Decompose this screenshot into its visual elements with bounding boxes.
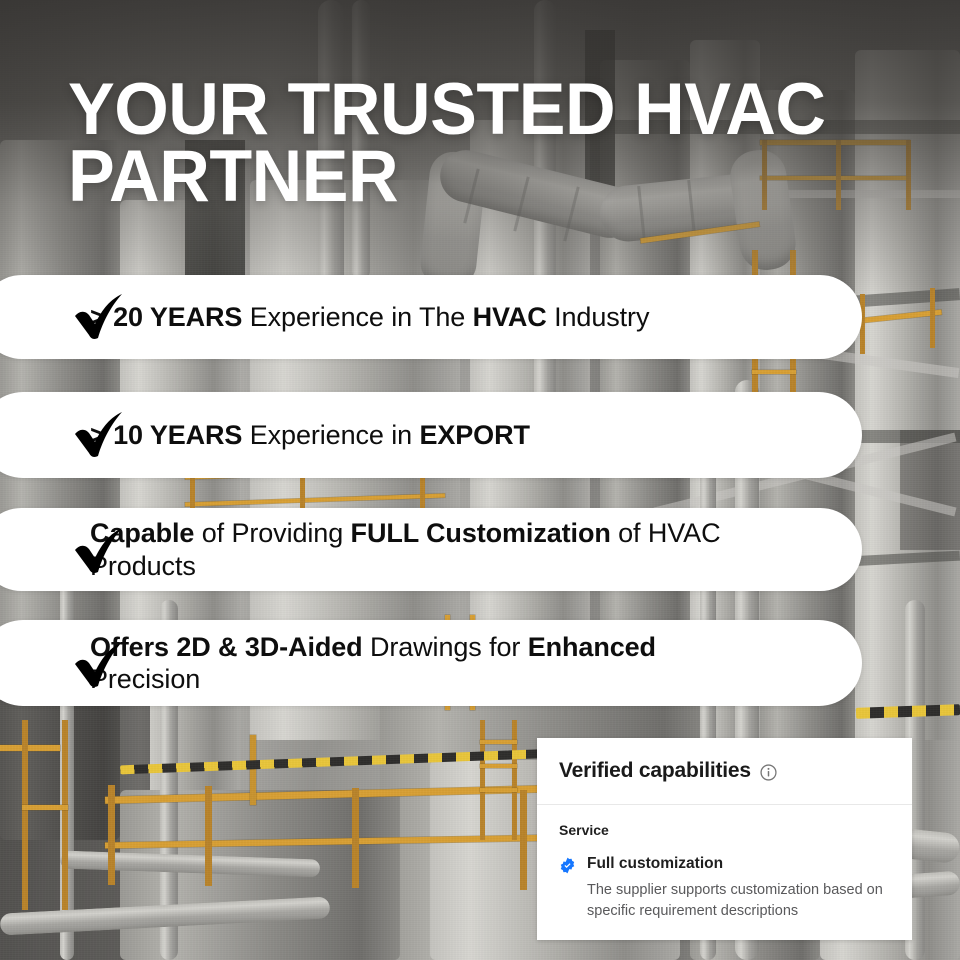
capability-description: The supplier supports customization base…	[587, 880, 892, 922]
verified-capabilities-body: Service Full customization The supplier …	[537, 805, 912, 922]
hvac-promo-banner: YOUR TRUSTED HVAC PARTNER > 20 YEARS Exp…	[0, 0, 960, 960]
feature-1-part-1: Experience in The	[250, 302, 473, 332]
page-title: YOUR TRUSTED HVAC PARTNER	[68, 76, 894, 210]
verified-capabilities-card: Verified capabilities Service Full cus	[537, 738, 912, 940]
verified-capabilities-header: Verified capabilities	[537, 738, 912, 805]
info-circle-icon[interactable]	[760, 764, 777, 781]
feature-3-part-1: of Providing	[202, 518, 351, 548]
feature-3-part-2: FULL Customization	[351, 518, 619, 548]
checkmark-icon	[72, 410, 128, 460]
feature-4-part-0: Offers 2D & 3D-Aided	[90, 632, 370, 662]
feature-bar-4: Offers 2D & 3D-Aided Drawings for Enhanc…	[0, 620, 862, 706]
feature-text-3: Capable of Providing FULL Customization …	[90, 517, 730, 582]
capability-label: Full customization	[587, 855, 723, 873]
capability-section-label: Service	[559, 822, 892, 838]
checkmark-icon	[72, 526, 128, 576]
feature-text-2: > 10 YEARS Experience in EXPORT	[90, 419, 530, 451]
feature-4-part-1: Drawings for	[370, 632, 528, 662]
feature-text-1: > 20 YEARS Experience in The HVAC Indust…	[90, 301, 649, 333]
verified-capabilities-title: Verified capabilities	[559, 759, 751, 783]
verified-badge-icon	[559, 857, 576, 874]
checkmark-icon	[72, 292, 128, 342]
feature-2-part-2: EXPORT	[419, 420, 529, 450]
capability-row: Full customization	[559, 855, 892, 874]
feature-4-part-2: Enhanced	[528, 632, 656, 662]
feature-bar-3: Capable of Providing FULL Customization …	[0, 508, 862, 591]
checkmark-icon	[72, 640, 128, 690]
feature-bar-2: > 10 YEARS Experience in EXPORT	[0, 392, 862, 478]
feature-bar-1: > 20 YEARS Experience in The HVAC Indust…	[0, 275, 862, 359]
feature-1-part-3: Industry	[554, 302, 649, 332]
feature-text-4: Offers 2D & 3D-Aided Drawings for Enhanc…	[90, 631, 730, 696]
feature-2-part-1: Experience in	[250, 420, 420, 450]
feature-1-part-2: HVAC	[473, 302, 555, 332]
